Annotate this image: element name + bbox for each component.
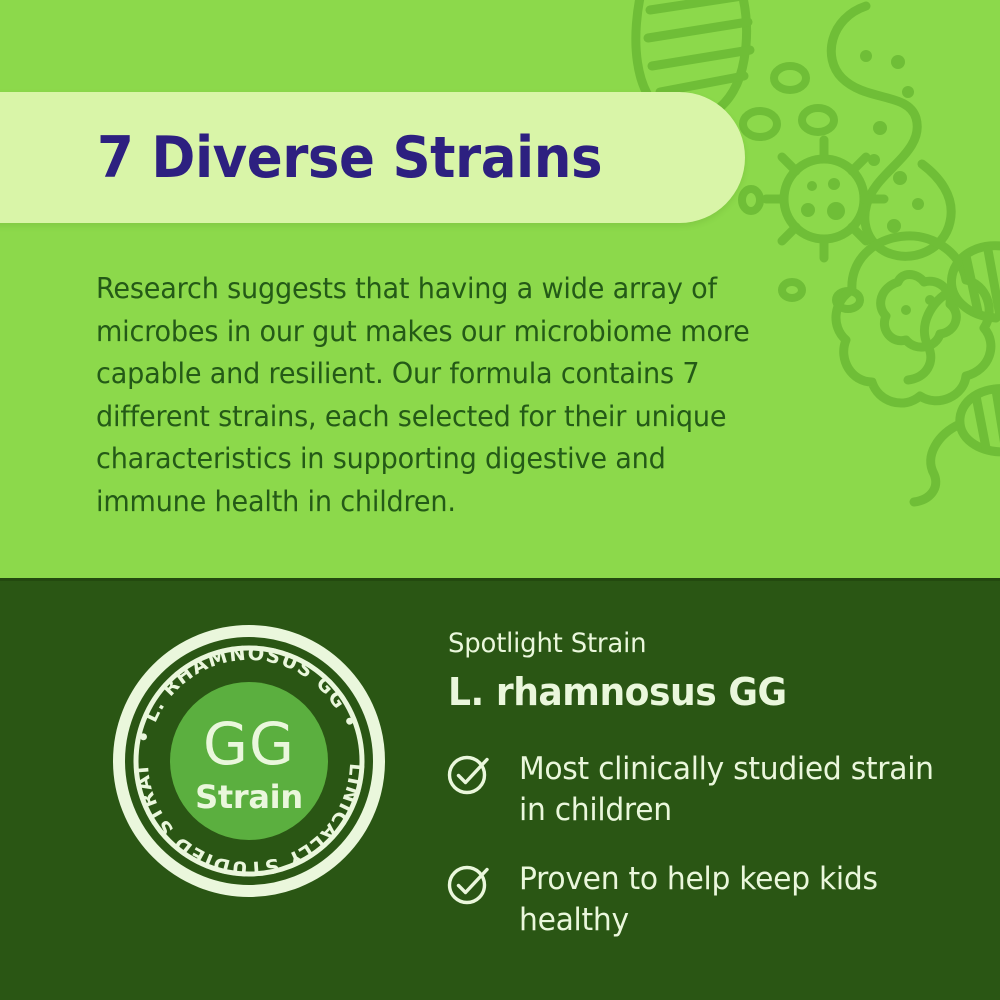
spirillum-dots xyxy=(860,50,924,233)
page-title: 7 Diverse Strains xyxy=(97,125,602,191)
gg-strain-badge: • L. RHAMNOSUS GG • CLINICALLY STUDIED S… xyxy=(113,625,385,897)
amoeba-icon xyxy=(836,236,991,403)
spirillum-icon xyxy=(831,6,951,256)
body-paragraph-container: Research suggests that having a wide arr… xyxy=(96,268,761,523)
list-item: Most clinically studied strain in childr… xyxy=(446,749,966,831)
spotlight-title: L. rhamnosus GG xyxy=(448,670,942,714)
flagellum-bacteria-icon-2 xyxy=(914,389,1000,502)
virus-dots xyxy=(801,178,845,220)
bottom-panel: • L. RHAMNOSUS GG • CLINICALLY STUDIED S… xyxy=(0,578,1000,1000)
badge-center-secondary: Strain xyxy=(195,778,303,816)
flagellum-bacteria-icon xyxy=(908,246,1000,380)
check-circle-icon xyxy=(446,861,492,907)
list-item-label: Most clinically studied strain in childr… xyxy=(519,749,948,831)
body-paragraph: Research suggests that having a wide arr… xyxy=(96,268,761,523)
list-item: Proven to help keep kids healthy xyxy=(446,859,966,941)
check-circle-icon xyxy=(446,751,492,797)
amoeba-dots xyxy=(901,295,935,315)
spotlight-label: Spotlight Strain xyxy=(448,628,947,660)
spotlight-strain-block: Spotlight Strain L. rhamnosus GG xyxy=(448,628,968,714)
virus-icon xyxy=(766,140,884,258)
top-panel: 7 Diverse Strains Research suggests that… xyxy=(0,0,1000,578)
benefit-list: Most clinically studied strain in childr… xyxy=(446,749,966,941)
infographic-card: 7 Diverse Strains Research suggests that… xyxy=(0,0,1000,1000)
title-banner: 7 Diverse Strains xyxy=(0,92,745,223)
list-item-label: Proven to help keep kids healthy xyxy=(519,859,948,941)
badge-center-primary: GG xyxy=(203,710,295,778)
